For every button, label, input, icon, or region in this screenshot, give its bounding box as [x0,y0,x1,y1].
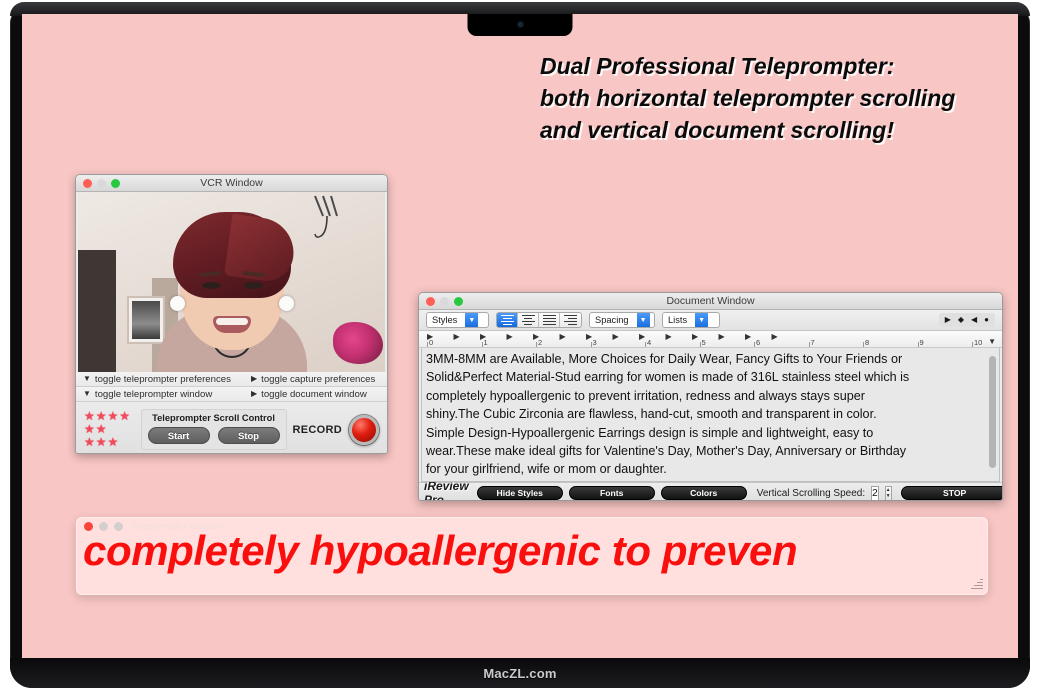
ruler-tick [809,342,810,347]
ruler-number: 5 [702,338,706,347]
star-icon: ★ [108,411,119,422]
vcr-traffic-lights [76,179,120,188]
vcr-toggle-row-1: ▼ toggle teleprompter preferences ▶ togg… [76,372,387,387]
ruler-tick [754,342,755,347]
record-area: RECORD [293,415,381,445]
ruler-number: 8 [865,338,869,347]
document-ruler[interactable]: ▶▶▶▶▶▶▶▶▶▶▶▶▶▶ 012345678910 ▼ [419,331,1002,348]
tab-marker-icon[interactable]: ▶ [560,332,566,341]
star-icon: ★ [119,411,130,422]
video-subject-teeth [216,318,248,325]
video-subject-earring-left [170,296,185,311]
document-traffic-lights [419,297,463,306]
vcr-titlebar[interactable]: VCR Window [76,175,387,192]
ruler-tick [427,342,428,347]
toggle-teleprompter-window[interactable]: ▼ toggle teleprompter window [76,389,244,400]
teleprompter-scroll-control-group: Teleprompter Scroll Control Start Stop [141,409,287,450]
ruler-tick [591,342,592,347]
headline-line-2: both horizontal teleprompter scrolling [540,82,1018,114]
document-toolbar: Styles ▼ [419,310,1002,331]
ruler-tick [482,342,483,347]
headline-line-1: Dual Professional Teleprompter: [540,50,1018,82]
document-nav-controls[interactable]: ▶ ◆ ◀ ● [939,313,995,327]
play-back-icon[interactable]: ◀ [971,316,977,324]
zoom-button[interactable] [111,179,120,188]
video-subject-eye-right [244,282,263,289]
star-row-1: ★ ★ ★ ★ [84,411,135,422]
ruler-number: 4 [647,338,651,347]
headline-line-3: and vertical document scrolling! [540,114,1018,146]
tab-marker-icon[interactable]: ▶ [586,332,592,341]
align-center-button[interactable] [518,313,539,327]
vertical-scrolling-speed-label: Vertical Scrolling Speed: [757,488,865,499]
star-icon: ★ [108,437,119,448]
document-vertical-scrollbar[interactable] [989,352,996,477]
align-right-button[interactable] [560,313,581,327]
chevron-down-icon: ▼ [465,313,478,327]
video-background-picture-frame [127,296,165,344]
styles-dropdown-label: Styles [427,315,465,325]
document-stop-button[interactable]: STOP [901,486,1003,500]
minimize-button[interactable] [97,179,106,188]
rating-stars: ★ ★ ★ ★ ★ ★ ★ ★ ★ [82,411,135,448]
ruler-tick [972,342,973,347]
close-button[interactable] [426,297,435,306]
tab-marker-icon[interactable]: ▶ [639,332,645,341]
scroll-control-title: Teleprompter Scroll Control [148,413,280,423]
camera-icon [518,22,523,27]
circle-icon[interactable]: ● [984,316,989,324]
teleprompter-window-title: Teleprompter Window [131,521,223,532]
scrollbar-thumb[interactable] [989,356,996,468]
speed-stepper[interactable]: ▲ ▼ [885,486,892,501]
tab-marker-icon[interactable]: ▶ [772,332,778,341]
video-background-doorway [78,250,116,372]
document-text-area[interactable]: 3MM-8MM are Available, More Choices for … [421,348,1000,482]
video-background-photo [132,301,160,339]
alignment-button-group [496,312,582,328]
tab-marker-icon[interactable]: ▶ [507,332,513,341]
ruler-tick [645,342,646,347]
star-icon: ★ [84,411,95,422]
document-body-line: for your girlfriend, wife or mom or daug… [426,460,983,478]
ruler-tick [863,342,864,347]
record-label: RECORD [293,424,342,436]
record-button[interactable] [349,415,379,445]
star-icon: ★ [96,437,107,448]
stop-button[interactable]: Stop [218,427,280,444]
align-justify-button[interactable] [539,313,560,327]
triangle-right-icon: ▶ [251,375,257,383]
document-titlebar[interactable]: Document Window [419,293,1002,310]
triangle-down-icon: ▼ [83,375,91,383]
ruler-tick [536,342,537,347]
ruler-number: 10 [974,338,982,347]
tab-marker-icon[interactable]: ▶ [666,332,672,341]
laptop-frame: Dual Professional Teleprompter: both hor… [10,2,1030,688]
toggle-label: toggle capture preferences [261,374,375,385]
vcr-control-panel: ★ ★ ★ ★ ★ ★ ★ ★ ★ Tel [76,402,387,454]
close-button[interactable] [84,522,93,531]
document-body-line: Solid&Perfect Material-Stud earring for … [426,368,983,386]
toggle-capture-preferences[interactable]: ▶ toggle capture preferences [244,374,375,385]
scroll-control-buttons: Start Stop [148,427,280,444]
toggle-label: toggle teleprompter preferences [95,374,231,385]
ruler-number: 2 [538,338,542,347]
align-left-button[interactable] [497,313,518,327]
tab-marker-icon[interactable]: ▶ [613,332,619,341]
vcr-video-preview [78,192,385,372]
lists-dropdown-label: Lists [663,315,695,325]
tab-marker-icon[interactable]: ▶ [454,332,460,341]
star-row-2: ★ ★ [84,424,135,435]
document-body-line: 3MM-8MM are Available, More Choices for … [426,350,983,368]
teleprompter-window[interactable]: Teleprompter Window completely hypoaller… [76,517,988,595]
document-body-line: completely hypoallergenic to prevent irr… [426,387,983,405]
document-body-text[interactable]: 3MM-8MM are Available, More Choices for … [422,348,999,479]
spacing-dropdown-label: Spacing [590,315,637,325]
camera-notch [468,14,573,36]
vertical-scrolling-speed-input[interactable]: 2 [871,486,879,501]
play-forward-icon[interactable]: ▶ [945,316,951,324]
ruler-number: 1 [484,338,488,347]
triangle-down-icon: ▼ [83,390,91,398]
resize-grip-icon[interactable] [970,578,983,591]
teleprompter-titlebar[interactable]: Teleprompter Window [77,518,987,535]
brand-footer-text: MacZL.com [483,666,556,681]
star-row-3: ★ ★ ★ [84,437,135,448]
document-status-bar: iReview Pro Hide Styles Fonts Colors Ver… [419,482,1002,501]
vcr-window[interactable]: VCR Window [75,174,388,454]
video-subject-mouth [213,316,251,333]
document-body-line: Simple Design-Hypoallergenic Earrings de… [426,424,983,442]
star-icon: ★ [96,424,107,435]
document-window-title: Document Window [419,295,1002,307]
zoom-button[interactable] [114,522,123,531]
spacing-dropdown[interactable]: Spacing ▼ [589,312,655,328]
document-body-line: shiny.The Cubic Zirconia are flawless, h… [426,405,983,423]
triangle-down-icon: ▼ [988,337,996,346]
video-subject-eye-left [202,282,221,289]
fonts-button[interactable]: Fonts [569,486,655,500]
ruler-number: 3 [593,338,597,347]
zoom-button[interactable] [454,297,463,306]
minimize-button[interactable] [99,522,108,531]
ruler-tick [700,342,701,347]
tab-marker-icon[interactable]: ▶ [745,332,751,341]
vcr-toggle-row-2: ▼ toggle teleprompter window ▶ toggle do… [76,387,387,402]
styles-dropdown[interactable]: Styles ▼ [426,312,489,328]
close-button[interactable] [83,179,92,188]
hide-styles-button[interactable]: Hide Styles [477,486,563,500]
video-background-flowers [333,322,383,364]
star-icon: ★ [84,424,95,435]
headline-text: Dual Professional Teleprompter: both hor… [540,50,1018,146]
colors-button[interactable]: Colors [661,486,747,500]
video-background-hooks-icon [311,194,357,242]
star-icon: ★ [96,411,107,422]
ruler-number: 9 [920,338,924,347]
chevron-down-icon: ▼ [637,313,650,327]
stepper-down-icon[interactable]: ▼ [886,493,891,500]
diamond-icon[interactable]: ◆ [958,316,964,324]
start-button[interactable]: Start [148,427,210,444]
tab-marker-icon[interactable]: ▶ [719,332,725,341]
star-icon: ★ [84,437,95,448]
chevron-down-icon: ▼ [695,313,708,327]
document-window[interactable]: Document Window Styles ▼ [418,292,1003,501]
minimize-button[interactable] [440,297,449,306]
ruler-number: 7 [811,338,815,347]
lists-dropdown[interactable]: Lists ▼ [662,312,720,328]
video-subject-earring-right [279,296,294,311]
app-logo: iReview Pro [424,479,471,501]
toggle-label: toggle document window [261,389,367,400]
laptop-bottom-bezel: MacZL.com [10,658,1030,688]
triangle-right-icon: ▶ [251,390,257,398]
tab-marker-icon[interactable]: ▶ [692,332,698,341]
ruler-number: 6 [756,338,760,347]
screen-desktop: Dual Professional Teleprompter: both hor… [22,14,1018,658]
toggle-document-window[interactable]: ▶ toggle document window [244,389,367,400]
ruler-number: 0 [429,338,433,347]
toggle-label: toggle teleprompter window [95,389,212,400]
toggle-teleprompter-preferences[interactable]: ▼ toggle teleprompter preferences [76,374,244,385]
vcr-window-title: VCR Window [76,177,387,189]
ruler-tick [918,342,919,347]
document-body-line: wear.These make ideal gifts for Valentin… [426,442,983,460]
